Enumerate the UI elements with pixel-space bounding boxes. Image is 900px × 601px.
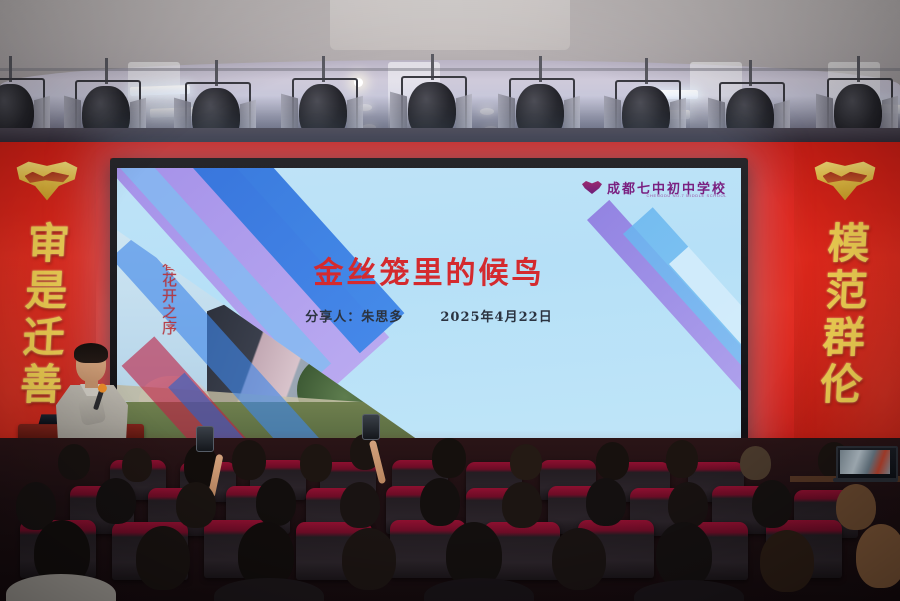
- audience-head: [740, 446, 771, 480]
- slide-date: 2025年4月22日: [440, 310, 552, 325]
- audience-head: [342, 528, 396, 590]
- audience-head: [752, 480, 792, 528]
- audience-head: [420, 478, 460, 526]
- audience-head: [760, 530, 814, 592]
- audience-head: [668, 482, 708, 528]
- audience-head: [666, 440, 698, 478]
- diamond-logo-icon: [582, 181, 602, 194]
- audience-head: [96, 478, 136, 524]
- audience-head: [176, 482, 216, 528]
- audience-head: [656, 522, 712, 588]
- audience-head: [552, 528, 606, 590]
- audience-shoulder: [424, 578, 534, 601]
- audience-head: [122, 448, 152, 482]
- projection-screen[interactable]: 静看花开之序 成都七中初中学校 CHENGDU NO.7 MIDDLE SCHO…: [117, 168, 741, 446]
- audience-head: [596, 442, 629, 480]
- right-banner-text: 模范群伦: [805, 220, 887, 408]
- audience-head: [856, 524, 900, 588]
- audience-shoulder: [634, 580, 744, 601]
- gold-crest-icon: [14, 160, 80, 202]
- audience-head: [586, 478, 626, 526]
- slide-school-logo: 成都七中初中学校 CHENGDU NO.7 MIDDLE SCHOOL: [582, 178, 727, 197]
- slide-subtitle: 分享人：朱思多 2025年4月22日: [117, 306, 741, 325]
- auditorium-presentation-photo: 审是迁善 模范群伦 静看花开之序: [0, 0, 900, 601]
- audience-shoulder: [6, 574, 116, 601]
- audience-shoulder: [214, 578, 324, 601]
- smartphone-icon[interactable]: [196, 426, 214, 452]
- ceiling-beam: [330, 0, 570, 50]
- audience-head: [256, 478, 296, 526]
- audience-head: [300, 444, 332, 482]
- audience-head: [510, 444, 542, 480]
- audience-head: [136, 526, 190, 590]
- lighting-truss: [0, 68, 900, 71]
- audience-head: [432, 438, 466, 478]
- audience-head: [340, 482, 380, 528]
- right-banner: 模范群伦: [794, 142, 900, 472]
- smartphone-icon[interactable]: [362, 414, 380, 440]
- audience-head: [232, 440, 266, 480]
- slide-presenter: 分享人：朱思多: [305, 310, 403, 325]
- slide-title: 金丝笼里的候鸟: [117, 248, 741, 292]
- slide-logo-en-text: CHENGDU NO.7 MIDDLE SCHOOL: [647, 193, 728, 198]
- av-control-laptop[interactable]: [836, 446, 894, 482]
- gold-crest-icon: [812, 160, 878, 202]
- audience-area: [0, 438, 900, 601]
- audience-head: [58, 444, 90, 480]
- audience-head: [502, 482, 542, 528]
- audience-head: [836, 484, 876, 530]
